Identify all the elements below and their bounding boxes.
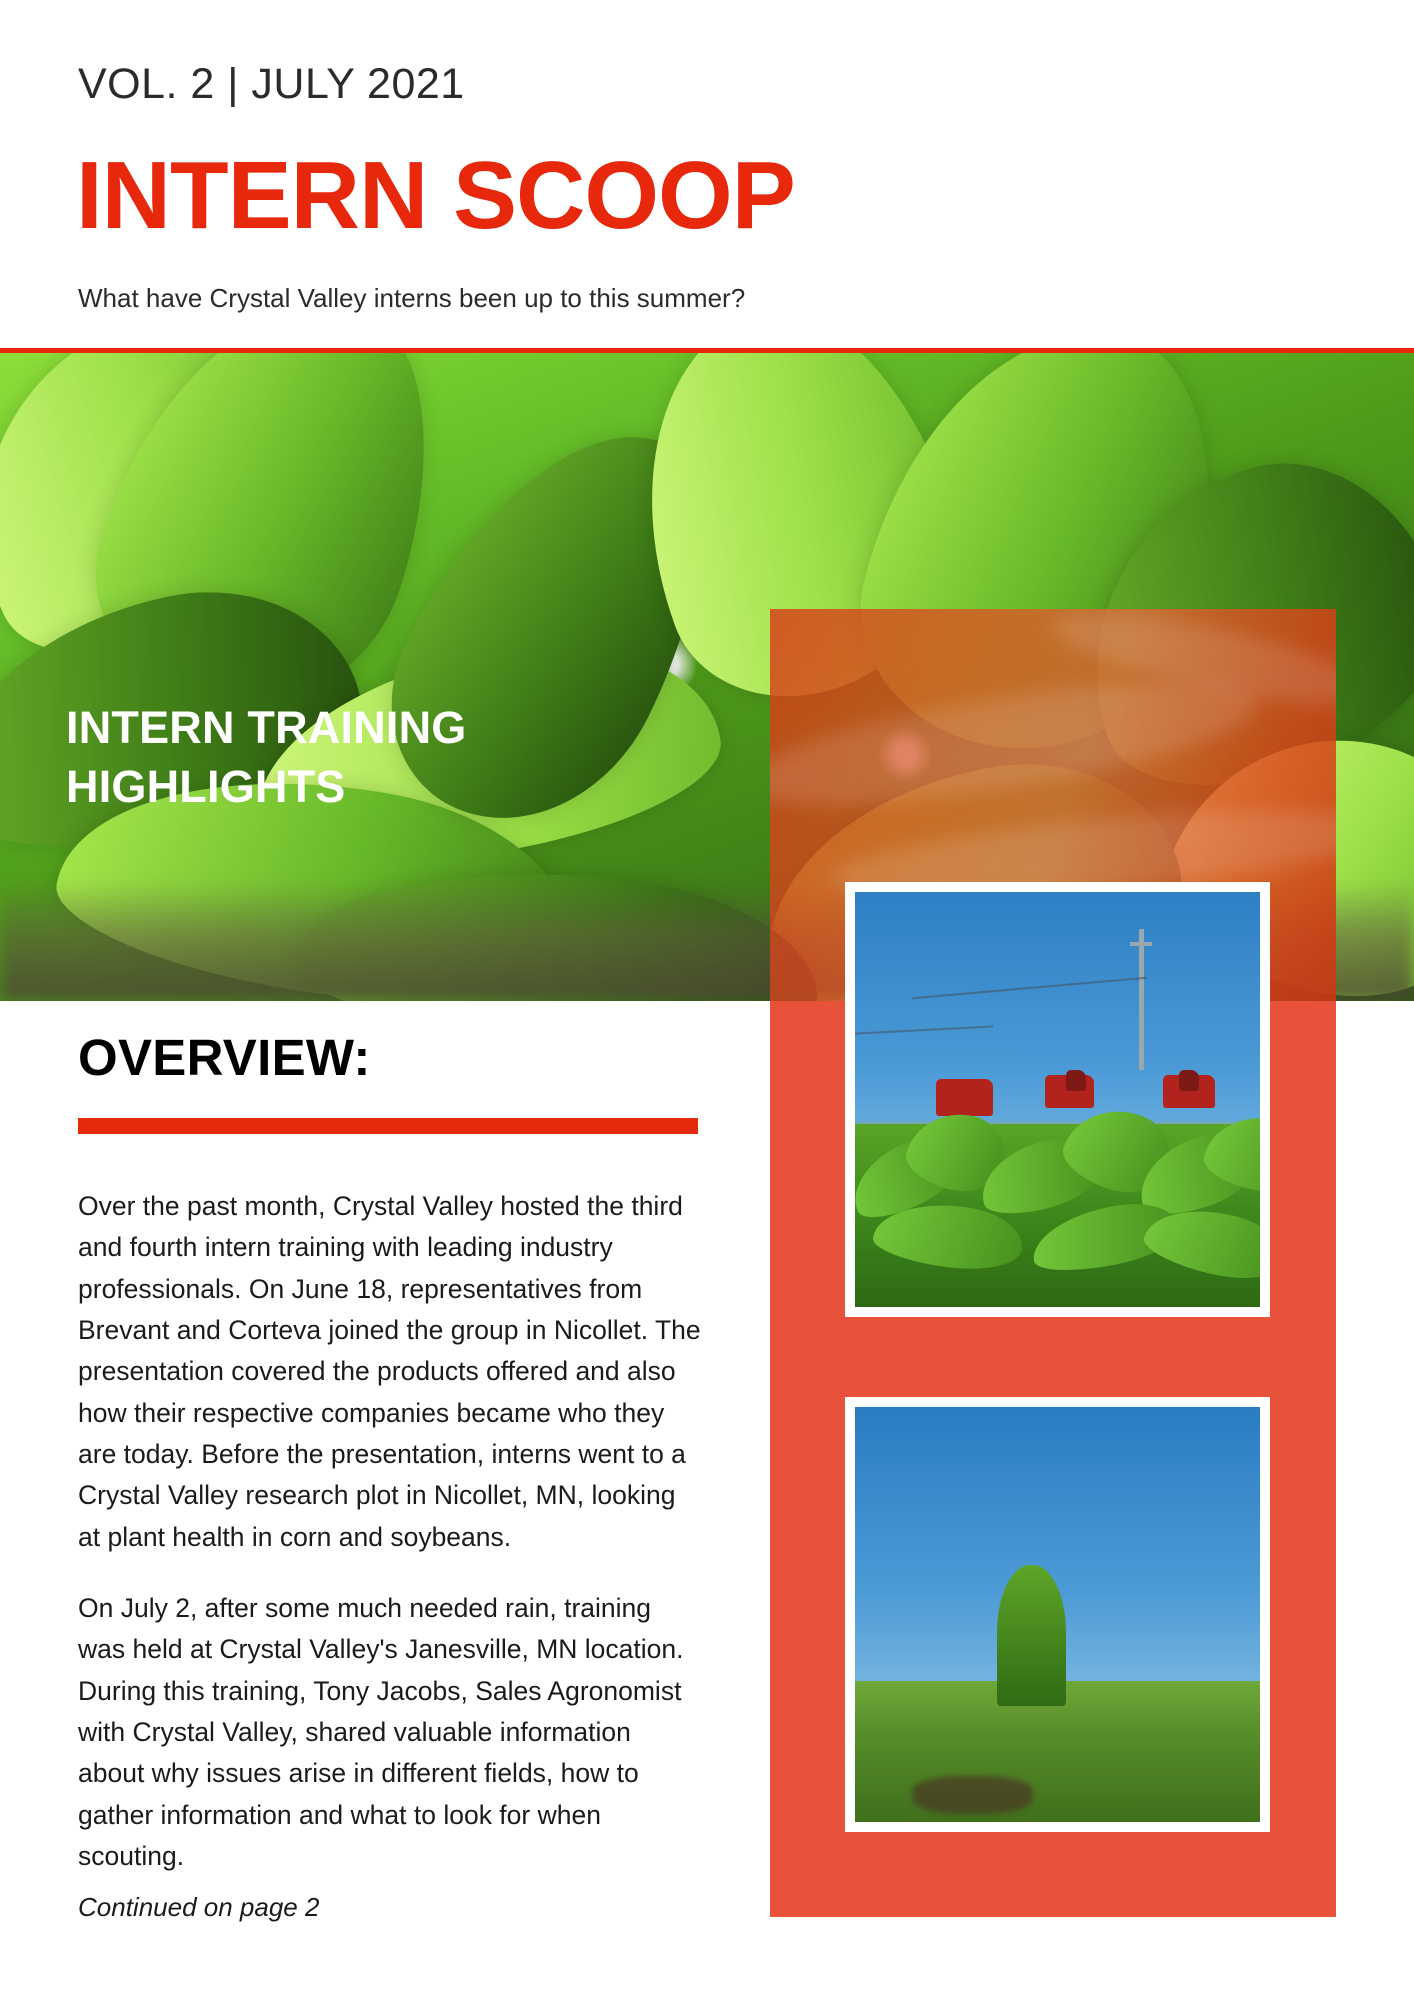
bare-soil-patch (912, 1776, 1034, 1813)
overview-heading: OVERVIEW: (78, 1028, 371, 1087)
overview-paragraph: Over the past month, Crystal Valley host… (78, 1186, 703, 1558)
masthead-subtitle: What have Crystal Valley interns been up… (78, 283, 745, 314)
continued-note: Continued on page 2 (78, 1892, 319, 1923)
corn-row-background (997, 1565, 1066, 1706)
panel-streak (770, 659, 1264, 829)
overview-paragraph: On July 2, after some much needed rain, … (78, 1588, 703, 1877)
overview-underline-rule (78, 1118, 698, 1134)
utility-pole (1139, 929, 1144, 1070)
truck-cab (1179, 1070, 1199, 1091)
masthead: VOL. 2 | JULY 2021 INTERN SCOOP What hav… (0, 0, 1414, 352)
overview-body-text: Over the past month, Crystal Valley host… (78, 1186, 703, 1877)
utility-pole-crossarm (1130, 942, 1152, 946)
page-title: INTERN SCOOP (76, 148, 795, 244)
intern-training-corn-plot-photo (845, 882, 1270, 1317)
truck-cab (1066, 1070, 1086, 1091)
red-pickup-truck (936, 1079, 993, 1116)
corn-canopy-foreground (855, 1124, 1260, 1307)
volume-date-line: VOL. 2 | JULY 2021 (78, 60, 465, 109)
panel-heading: INTERN TRAINING HIGHLIGHTS (66, 698, 536, 817)
intern-training-scouting-photo (845, 1397, 1270, 1832)
